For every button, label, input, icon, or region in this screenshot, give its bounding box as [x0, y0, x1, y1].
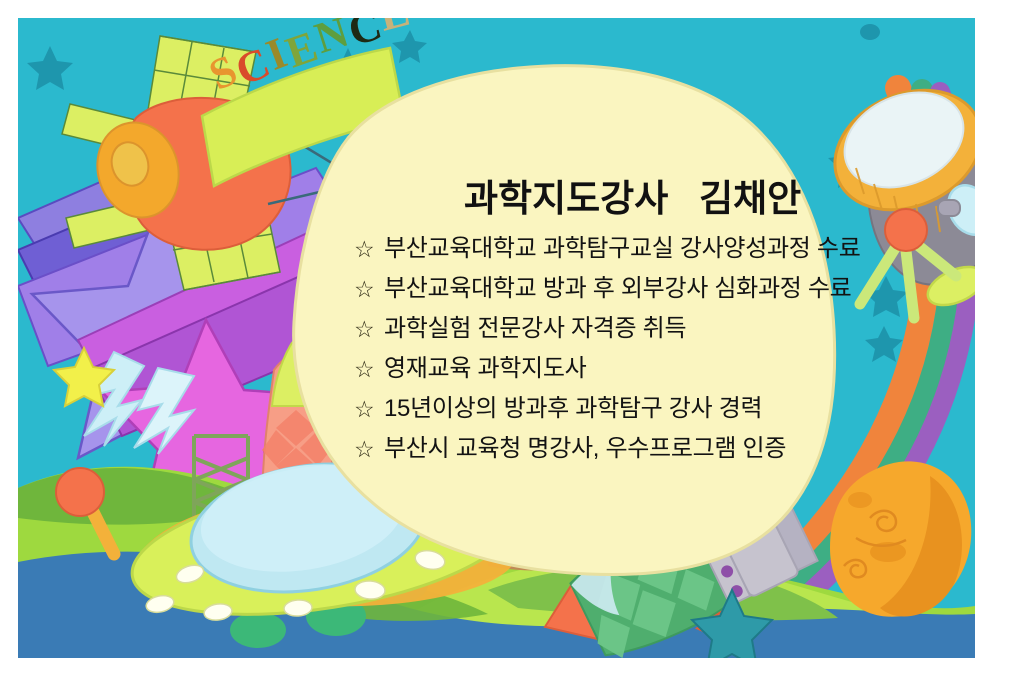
star-bullet-icon: ☆ — [354, 317, 384, 341]
credential-text: 과학실험 전문강사 자격증 취득 — [384, 317, 936, 341]
credential-item: ☆영재교육 과학지도사 — [336, 357, 936, 397]
credential-text: 영재교육 과학지도사 — [384, 357, 936, 381]
credential-item: ☆부산교육대학교 방과 후 외부강사 심화과정 수료 — [336, 277, 936, 317]
credential-item: ☆부산시 교육청 명강사, 우수프로그램 인증 — [336, 437, 936, 477]
star-bullet-icon: ☆ — [354, 437, 384, 461]
star-bullet-icon: ☆ — [354, 237, 384, 261]
poster-card: SCIENCE 과학지도강사 김채안 ☆부산교육대학교 과학탐구교실 강사양성과… — [18, 18, 975, 658]
star-bullet-icon: ☆ — [354, 277, 384, 301]
credential-item: ☆15년이상의 방과후 과학탐구 강사 경력 — [336, 397, 936, 437]
star-bullet-icon: ☆ — [354, 357, 384, 381]
credential-item: ☆부산교육대학교 과학탐구교실 강사양성과정 수료 — [336, 237, 936, 277]
credential-item: ☆과학실험 전문강사 자격증 취득 — [336, 317, 936, 357]
content-text: 과학지도강사 김채안 ☆부산교육대학교 과학탐구교실 강사양성과정 수료☆부산교… — [336, 178, 936, 477]
credential-text: 부산시 교육청 명강사, 우수프로그램 인증 — [384, 437, 936, 461]
credentials-list: ☆부산교육대학교 과학탐구교실 강사양성과정 수료☆부산교육대학교 방과 후 외… — [336, 237, 936, 477]
credential-text: 부산교육대학교 방과 후 외부강사 심화과정 수료 — [384, 277, 936, 301]
credential-text: 부산교육대학교 과학탐구교실 강사양성과정 수료 — [384, 237, 936, 261]
page-title: 과학지도강사 김채안 — [336, 178, 936, 221]
credential-text: 15년이상의 방과후 과학탐구 강사 경력 — [384, 397, 936, 421]
star-bullet-icon: ☆ — [354, 397, 384, 421]
